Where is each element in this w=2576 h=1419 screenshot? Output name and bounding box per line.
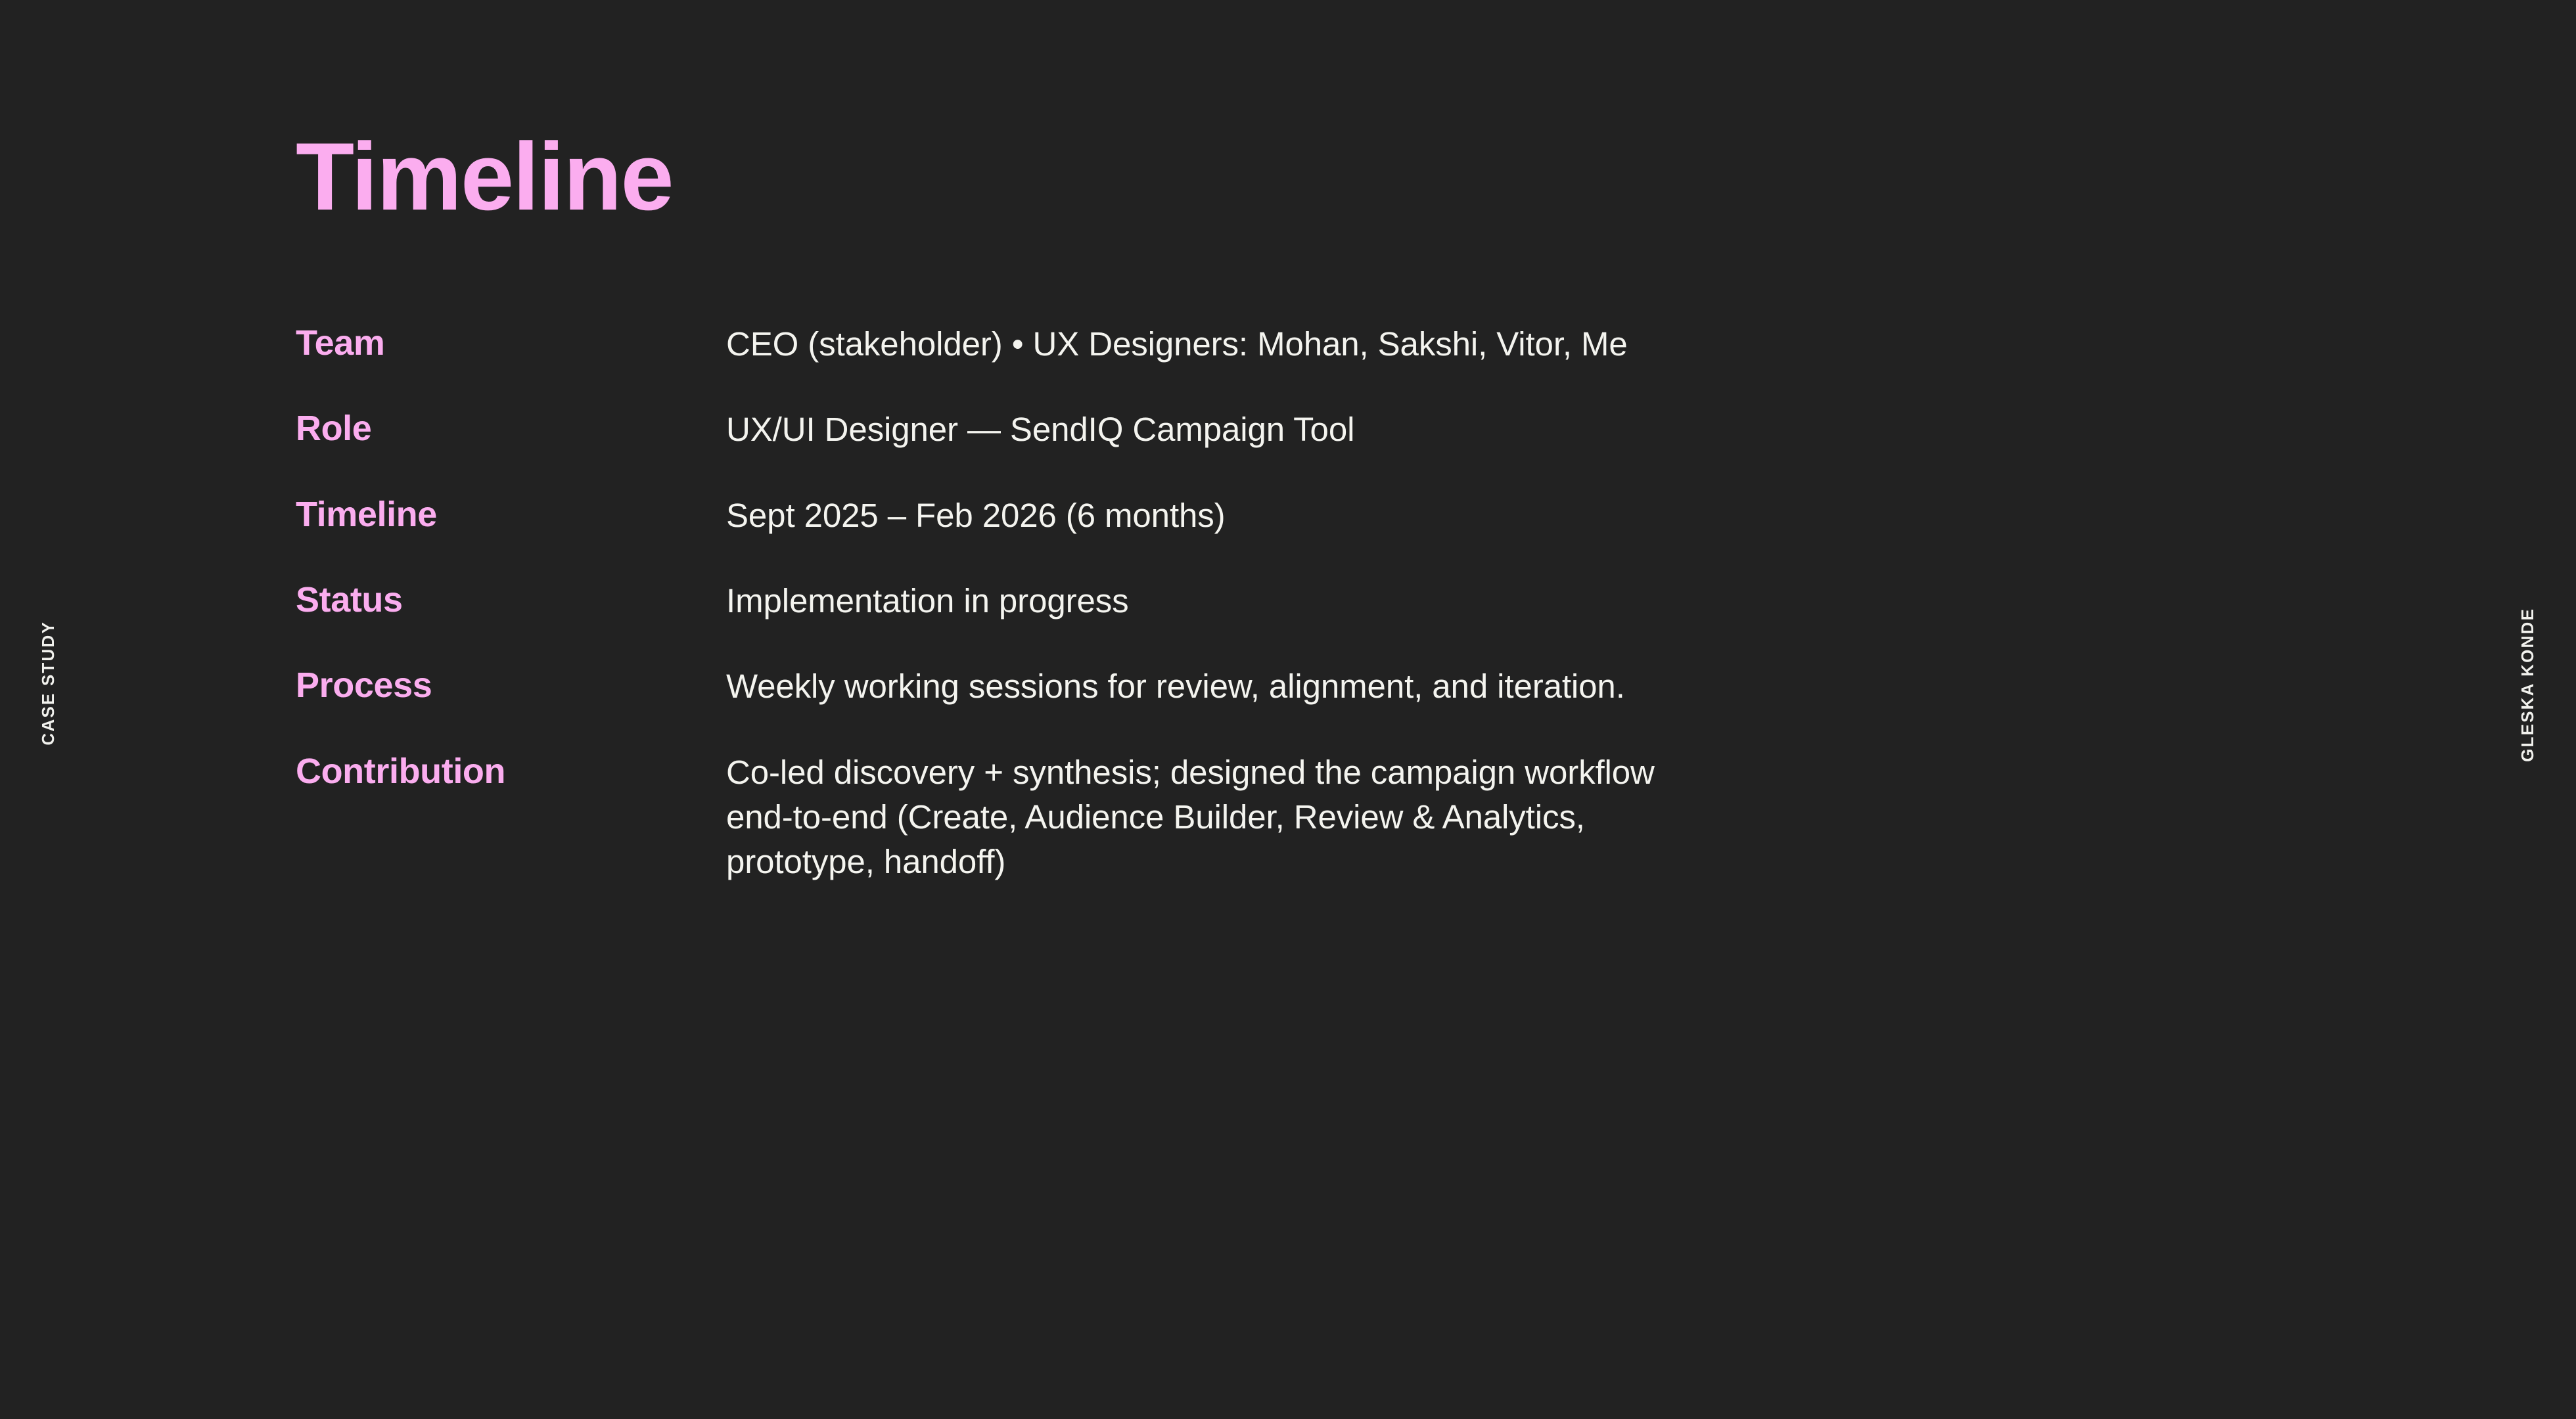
meta-row-value: CEO (stakeholder) • UX Designers: Mohan,… <box>726 322 2211 367</box>
meta-row-value-line: prototype, handoff) <box>726 840 2211 884</box>
meta-row-value-line: CEO (stakeholder) • UX Designers: Mohan,… <box>726 322 2211 367</box>
meta-row-value-line: Co-led discovery + synthesis; designed t… <box>726 750 2211 795</box>
meta-row-value-line: Implementation in progress <box>726 579 2211 623</box>
meta-row-value-line: Weekly working sessions for review, alig… <box>726 664 2211 709</box>
slide-root: CASE STUDY GLESKA KONDE Timeline TeamCEO… <box>0 0 2576 1419</box>
meta-row-label: Status <box>296 579 726 619</box>
meta-row: TeamCEO (stakeholder) • UX Designers: Mo… <box>296 322 2241 367</box>
meta-row: StatusImplementation in progress <box>296 579 2241 623</box>
meta-row-value: Implementation in progress <box>726 579 2211 623</box>
meta-row: ContributionCo-led discovery + synthesis… <box>296 750 2241 885</box>
meta-row-value: Sept 2025 – Feb 2026 (6 months) <box>726 493 2211 538</box>
meta-row-value-line: Sept 2025 – Feb 2026 (6 months) <box>726 493 2211 538</box>
meta-row-value-line: UX/UI Designer — SendIQ Campaign Tool <box>726 407 2211 452</box>
project-meta-table: TeamCEO (stakeholder) • UX Designers: Mo… <box>296 322 2241 885</box>
meta-row-label: Process <box>296 664 726 705</box>
meta-row-value: UX/UI Designer — SendIQ Campaign Tool <box>726 407 2211 452</box>
meta-row-value: Co-led discovery + synthesis; designed t… <box>726 750 2211 885</box>
meta-row-label: Timeline <box>296 493 726 534</box>
meta-row: RoleUX/UI Designer — SendIQ Campaign Too… <box>296 407 2241 452</box>
meta-row-label: Role <box>296 407 726 448</box>
meta-row-value: Weekly working sessions for review, alig… <box>726 664 2211 709</box>
meta-row-label: Team <box>296 322 726 363</box>
page-title: Timeline <box>296 129 673 225</box>
meta-row-label: Contribution <box>296 750 726 791</box>
meta-row: ProcessWeekly working sessions for revie… <box>296 664 2241 709</box>
author-side-label: GLESKA KONDE <box>2518 608 2538 762</box>
case-study-side-label: CASE STUDY <box>38 621 58 746</box>
meta-row: TimelineSept 2025 – Feb 2026 (6 months) <box>296 493 2241 538</box>
meta-row-value-line: end-to-end (Create, Audience Builder, Re… <box>726 795 2211 840</box>
